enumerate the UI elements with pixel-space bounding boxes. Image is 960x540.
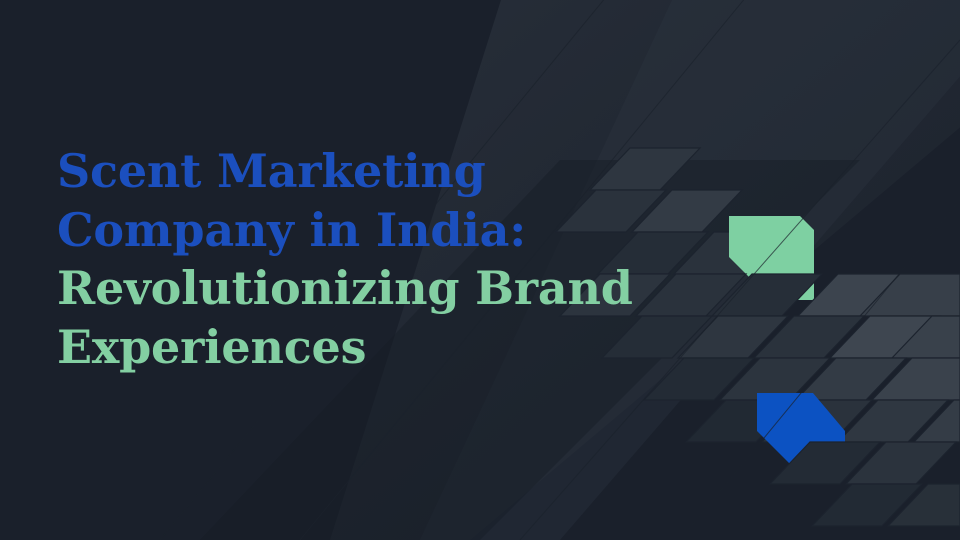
tile [914,400,960,442]
tile [632,190,742,232]
tile [846,442,956,484]
accent-blue-shape [757,393,845,473]
tile [838,400,948,442]
page-title: Scent Marketing Company in India: Revolu… [57,142,617,376]
tile [712,274,822,316]
tile [770,442,880,484]
tile [602,316,712,358]
title-slide: Scent Marketing Company in India: Revolu… [0,0,960,540]
tile [754,316,864,358]
tile [636,274,746,316]
tile [888,484,960,526]
tile [674,232,784,274]
tile [872,358,960,400]
title-line-1: Scent Marketing [57,142,617,201]
tile [830,316,940,358]
tile [798,274,908,316]
title-line-4: Experiences [57,318,617,377]
tile [860,274,960,316]
tile [762,400,872,442]
tile [678,316,788,358]
tile [720,358,830,400]
tile [644,358,754,400]
tile [892,316,960,358]
tile [686,400,796,442]
tile [812,484,922,526]
accent-green-shape-main [729,216,814,300]
title-line-2: Company in India: [57,201,617,260]
tile [796,358,906,400]
title-line-3: Revolutionizing Brand [57,259,617,318]
